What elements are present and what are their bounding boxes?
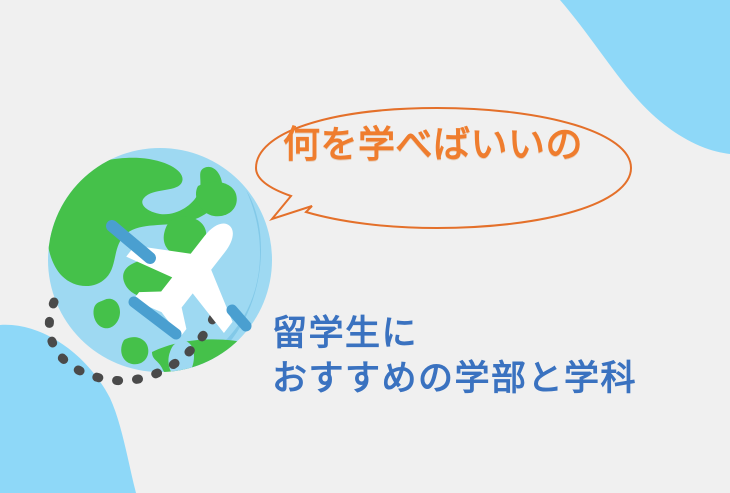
globe-island-b [121,337,148,364]
banner-image: 何を学べばいいの 留学生に おすすめの学部と学科 [0,0,730,493]
headline-line-2: おすすめの学部と学科 [272,357,712,402]
illustration [0,0,730,493]
headline-line-1: 留学生に [272,312,712,357]
speech-bubble-text: 何を学べばいいの [283,126,603,163]
headline: 留学生に おすすめの学部と学科 [272,312,712,402]
